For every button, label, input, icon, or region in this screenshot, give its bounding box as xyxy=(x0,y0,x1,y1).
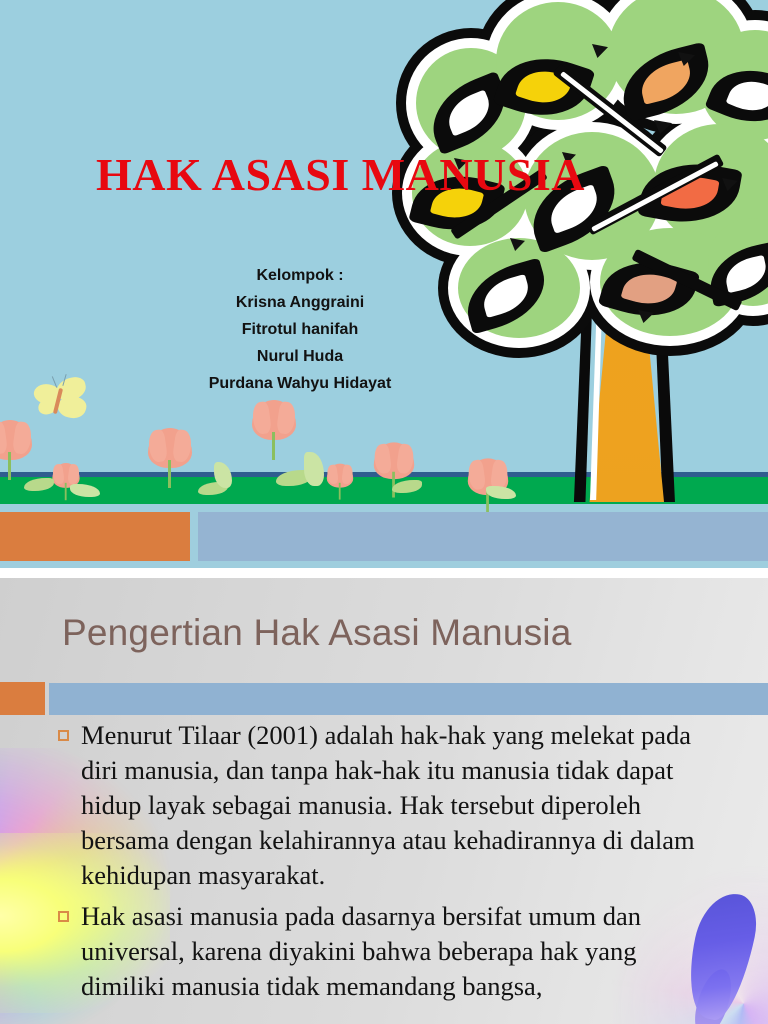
slide-1-title: HAK ASASI MANUSIA xyxy=(96,148,585,201)
presenter-name: Krisna Anggraini xyxy=(130,289,470,316)
slide-2-blue-bar xyxy=(49,683,768,715)
list-item: Menurut Tilaar (2001) adalah hak-hak yan… xyxy=(0,718,768,893)
slide-1-blue-bar xyxy=(198,512,768,561)
presentation-page: HAK ASASI MANUSIA Kelompok : Krisna Angg… xyxy=(0,0,768,1024)
square-bullet-icon xyxy=(58,911,69,922)
slide-2-heading: Pengertian Hak Asasi Manusia xyxy=(62,612,572,654)
slide-2-body: Menurut Tilaar (2001) adalah hak-hak yan… xyxy=(0,718,768,1010)
presenter-heading: Kelompok : xyxy=(130,262,470,289)
tulip-flower xyxy=(252,400,296,458)
list-item: Hak asasi manusia pada dasarnya bersifat… xyxy=(0,899,768,1004)
bullet-text: Menurut Tilaar (2001) adalah hak-hak yan… xyxy=(81,718,707,893)
presenter-name: Nurul Huda xyxy=(130,343,470,370)
tree-illustration xyxy=(392,0,768,504)
square-bullet-icon xyxy=(58,730,69,741)
tulip-flower xyxy=(148,428,192,486)
presenter-name: Purdana Wahyu Hidayat xyxy=(130,370,470,397)
slide-1[interactable]: HAK ASASI MANUSIA Kelompok : Krisna Angg… xyxy=(0,0,768,568)
tulip-flower xyxy=(327,464,353,499)
butterfly-icon xyxy=(32,378,88,422)
bullet-text: Hak asasi manusia pada dasarnya bersifat… xyxy=(81,899,707,1004)
presenter-name: Fitrotul hanifah xyxy=(130,316,470,343)
slide-1-orange-bar xyxy=(0,512,190,561)
tulip-flower xyxy=(0,420,32,478)
slide-2-orange-tab xyxy=(0,682,45,715)
presenter-list: Kelompok : Krisna Anggraini Fitrotul han… xyxy=(130,262,470,397)
